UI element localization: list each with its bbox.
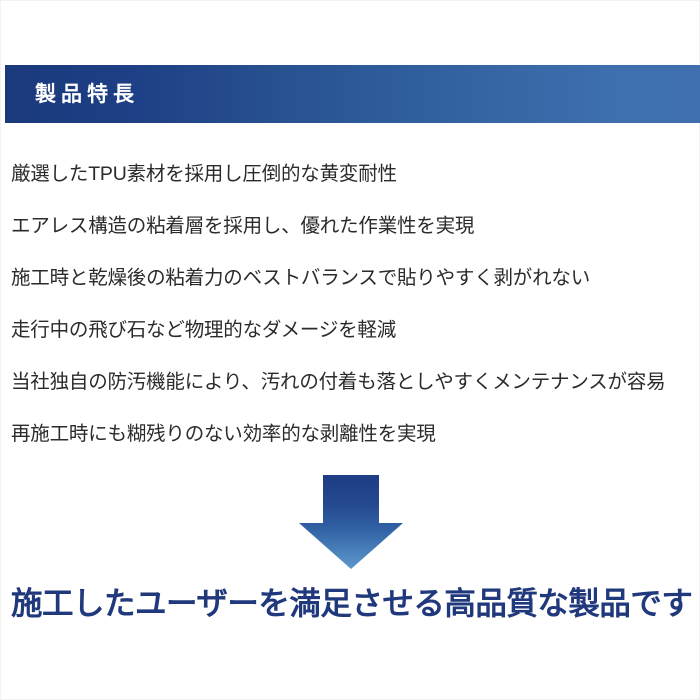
feature-item-3: 施工時と乾燥後の粘着力のベストバランスで貼りやすく剥がれない [11, 252, 700, 304]
feature-item-2: エアレス構造の粘着層を採用し、優れた作業性を実現 [11, 200, 700, 252]
feature-list: 厳選したTPU素材を採用し圧倒的な黄変耐性 エアレス構造の粘着層を採用し、優れた… [11, 148, 700, 460]
arrow-down-icon [299, 475, 403, 571]
conclusion-statement: 施工したユーザーを満足させる高品質な製品です [11, 581, 700, 625]
feature-item-4: 走行中の飛び石など物理的なダメージを軽減 [11, 304, 700, 356]
feature-item-6: 再施工時にも糊残りのない効率的な剥離性を実現 [11, 408, 700, 460]
product-features-panel: 製品特長 厳選したTPU素材を採用し圧倒的な黄変耐性 エアレス構造の粘着層を採用… [0, 0, 700, 700]
section-header-title: 製品特長 [5, 84, 139, 105]
section-header-bar: 製品特長 [5, 65, 700, 123]
feature-item-1: 厳選したTPU素材を採用し圧倒的な黄変耐性 [11, 148, 700, 200]
feature-item-5: 当社独自の防汚機能により、汚れの付着も落としやすくメンテナンスが容易 [11, 356, 700, 408]
